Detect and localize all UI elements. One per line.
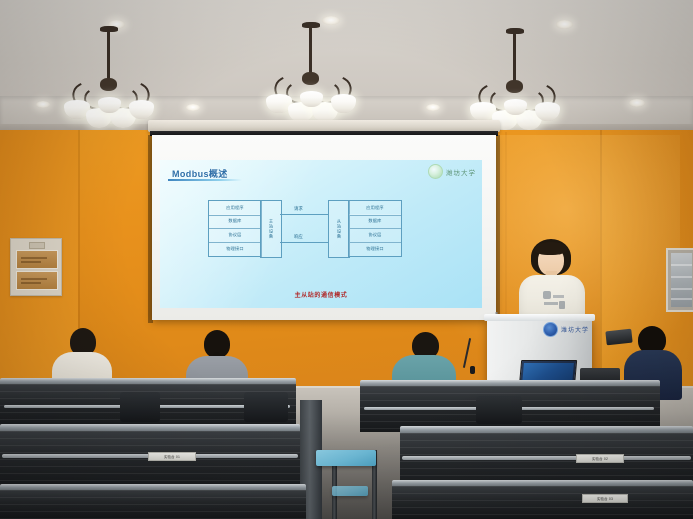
sweatshirt-graphic	[541, 289, 567, 311]
right-wall-frame	[666, 248, 693, 312]
diagram-link-response	[280, 242, 328, 243]
presenter-fringe	[535, 242, 567, 255]
diagram-right-stack-label: 从站设备	[328, 200, 350, 258]
chair[interactable]	[476, 396, 522, 424]
desk-label-tag: 实验台 02	[576, 454, 624, 463]
diagram-cell: 物理接口	[348, 242, 402, 257]
podium-university-logo: 潍坊大学	[543, 322, 595, 337]
diagram-cell: 协议层	[208, 228, 262, 243]
desk-label-tag: 实验台 01	[148, 452, 196, 461]
diagram-link-request	[280, 214, 328, 215]
desk-row	[0, 484, 306, 519]
slide-logo-text: 潍坊大学	[446, 167, 476, 177]
diagram-cell: 数据库	[348, 214, 402, 229]
chair[interactable]	[244, 392, 288, 422]
downlight	[36, 101, 50, 108]
university-emblem-icon	[428, 164, 443, 179]
wall-plaque	[16, 271, 58, 290]
equipment-tray	[332, 486, 368, 496]
diagram-cell: 物理接口	[208, 242, 262, 257]
chandelier	[262, 22, 358, 132]
chandelier	[60, 26, 156, 136]
podium-top-surface	[484, 314, 595, 321]
slide-title-rule	[168, 179, 242, 181]
diagram-left-stack-label: 主站设备	[260, 200, 282, 258]
mic-capsule-icon	[470, 366, 475, 374]
plaque-header-tab	[29, 242, 45, 249]
podium-logo-text: 潍坊大学	[561, 325, 589, 334]
right-stack-label-text: 从站设备	[336, 219, 342, 239]
diagram-link-response-label: 响应	[294, 234, 303, 240]
projected-slide: Modbus概述 潍坊大学 应用程序 数据库 协议层 物理接口 主站设备 从站设…	[160, 160, 482, 308]
slide-caption: 主从站的通信模式	[160, 290, 482, 299]
downlight	[426, 104, 440, 111]
presenter	[519, 239, 585, 325]
slide-university-logo: 潍坊大学	[428, 164, 476, 179]
desk-row: 实验台 03	[392, 480, 693, 519]
left-stack-label-text: 主站设备	[268, 219, 274, 239]
wall-plaque	[16, 250, 58, 269]
diagram-link-request-label: 请求	[294, 206, 303, 212]
chair[interactable]	[120, 392, 160, 422]
wall-plaque-board	[10, 238, 62, 296]
equipment-tray	[316, 450, 376, 466]
diagram-cell: 协议层	[348, 228, 402, 243]
downlight	[186, 104, 200, 111]
diagram-cell: 数据库	[208, 214, 262, 229]
downlight	[629, 99, 645, 107]
university-emblem-icon	[543, 322, 558, 337]
desk-label-tag: 实验台 03	[582, 494, 628, 503]
classroom-photo: Modbus概述 潍坊大学 应用程序 数据库 协议层 物理接口 主站设备 从站设…	[0, 0, 693, 519]
